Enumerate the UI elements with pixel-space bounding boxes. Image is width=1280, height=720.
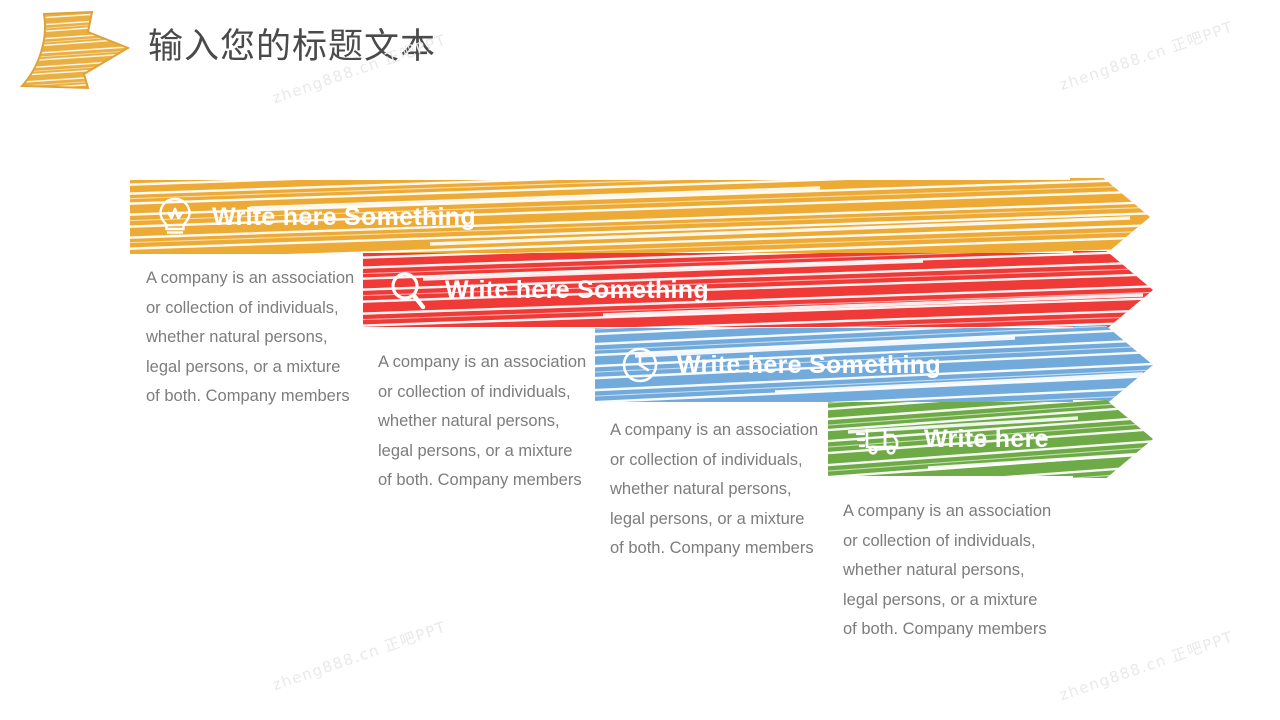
banner-row-2[interactable]: Write here Something xyxy=(363,251,1153,329)
banner-body-3: A company is an association or collectio… xyxy=(610,416,822,564)
slide-header: 输入您的标题文本 xyxy=(0,0,1280,105)
banner-shape-1 xyxy=(130,178,1150,256)
banner-shape-2 xyxy=(363,251,1153,329)
sketch-arrow-icon xyxy=(18,8,133,90)
banner-body-4: A company is an association or collectio… xyxy=(843,497,1055,645)
banner-row-4[interactable]: Write here xyxy=(828,400,1153,478)
banner-body-2: A company is an association or collectio… xyxy=(378,348,590,496)
banner-shape-4 xyxy=(828,400,1153,478)
watermark: zheng888.cn 正吧PPT xyxy=(1057,626,1237,705)
banner-row-1[interactable]: Write here Something xyxy=(130,178,1150,256)
watermark: zheng888.cn 正吧PPT xyxy=(270,616,450,695)
banner-shape-3 xyxy=(595,326,1153,404)
banner-row-3[interactable]: Write here Something xyxy=(595,326,1153,404)
banner-body-1: A company is an association or collectio… xyxy=(146,264,358,412)
